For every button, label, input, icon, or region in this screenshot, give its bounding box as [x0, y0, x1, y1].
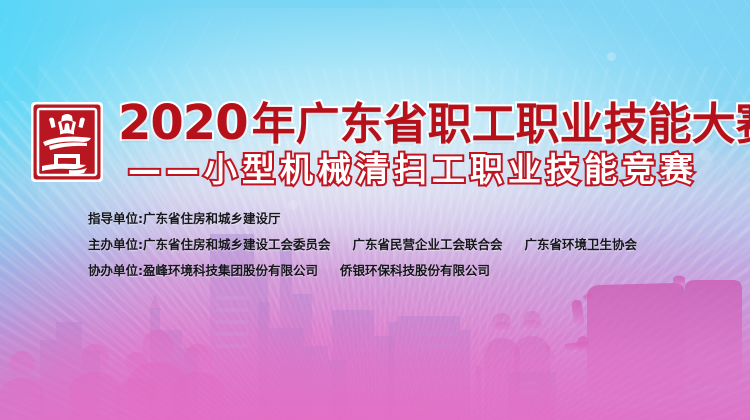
headline-line-1: 2020年广东省职工职业技能大赛	[118, 97, 750, 151]
organizer-entry: 侨银环保科技股份有限公司	[340, 263, 490, 278]
organizer-entry: 广东省住房和城乡建设厅	[143, 211, 281, 226]
guangdong-seal-stamp	[29, 100, 105, 184]
organizer-row-coorganizer: 协办单位:盈峰环境科技集团股份有限公司侨银环保科技股份有限公司	[88, 258, 637, 284]
decorative-dot	[700, 150, 711, 161]
decorative-dot	[607, 52, 616, 61]
organizer-row-host: 主办单位:广东省住房和城乡建设工会委员会广东省民营企业工会联合会广东省环境卫生协…	[88, 232, 637, 258]
organizer-label: 指导单位:	[88, 211, 143, 226]
seal-icon	[29, 100, 105, 184]
organizer-entry: 广东省住房和城乡建设工会委员会	[143, 237, 331, 252]
organizer-row-guidance: 指导单位:广东省住房和城乡建设厅	[88, 206, 637, 232]
headline-line-1-text: 年广东省职工职业技能大赛	[252, 99, 750, 150]
headline-line-2: ——小型机械清扫工职业技能竞赛	[128, 150, 698, 190]
organizer-entry: 广东省民营企业工会联合会	[353, 237, 503, 252]
organizer-label: 协办单位:	[88, 263, 143, 278]
competition-banner: 2020年广东省职工职业技能大赛 ——小型机械清扫工职业技能竞赛 指导单位:广东…	[0, 0, 750, 420]
headline-year: 2020	[118, 95, 248, 151]
organizer-list: 指导单位:广东省住房和城乡建设厅 主办单位:广东省住房和城乡建设工会委员会广东省…	[88, 206, 637, 284]
organizer-entry: 广东省环境卫生协会	[525, 237, 638, 252]
organizer-entry: 盈峰环境科技集团股份有限公司	[143, 263, 318, 278]
organizer-label: 主办单位:	[88, 237, 143, 252]
